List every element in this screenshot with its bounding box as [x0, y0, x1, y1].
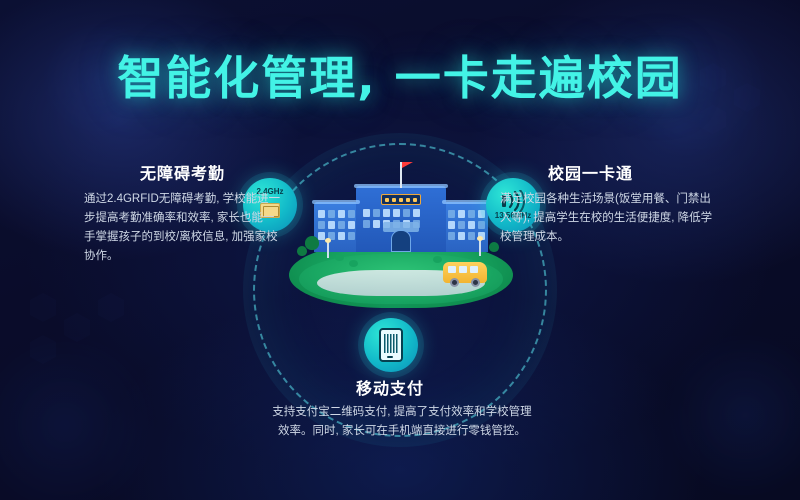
building-signboard	[381, 194, 421, 205]
slide-canvas: 智能化管理, 一卡走遍校园	[0, 0, 800, 500]
roof-line	[442, 200, 490, 204]
section-title-mobile-payment: 移动支付	[356, 375, 424, 399]
section-body-campus-card: 满足校园各种生活场景(饭堂用餐、门禁出入等), 提高学生在校的生活便捷度, 降低…	[500, 190, 714, 247]
bush-icon	[335, 254, 344, 261]
window-grid-left	[318, 210, 355, 240]
bush-icon	[433, 256, 442, 263]
tree-icon	[305, 236, 319, 250]
street-lamp-icon	[327, 242, 329, 258]
tree-icon	[297, 246, 307, 256]
decor-blob	[0, 330, 160, 500]
node-mobile-payment[interactable]	[364, 318, 418, 372]
tree-icon	[489, 242, 499, 252]
section-body-mobile-payment: 支持支付宝二维码支付, 提高了支付效率和学校管理效率。同时, 家长可在手机端直接…	[268, 403, 536, 441]
building-door	[391, 230, 411, 252]
decor-blob	[660, 330, 800, 500]
section-body-mobile-payment-text: 支持支付宝二维码支付, 提高了支付效率和学校管理效率。同时, 家长可在手机端直接…	[268, 403, 536, 441]
roof-line	[312, 200, 360, 204]
section-body-attendance-text: 通过2.4GRFID无障碍考勤, 学校能进一步提高考勤准确率和效率, 家长也能一…	[84, 190, 284, 266]
school-campus-illustration	[283, 150, 519, 310]
section-title-campus-card: 校园一卡通	[548, 160, 633, 184]
section-title-attendance: 无障碍考勤	[140, 160, 225, 184]
bush-icon	[349, 260, 358, 267]
mobile-phone-icon	[379, 328, 403, 362]
school-bus-icon	[443, 262, 487, 283]
street-lamp-icon	[479, 240, 481, 256]
section-body-attendance: 通过2.4GRFID无障碍考勤, 学校能进一步提高考勤准确率和效率, 家长也能一…	[84, 190, 284, 266]
page-title: 智能化管理, 一卡走遍校园	[0, 42, 800, 108]
flag-icon	[402, 162, 413, 174]
section-body-campus-card-text: 满足校园各种生活场景(饭堂用餐、门禁出入等), 提高学生在校的生活便捷度, 降低…	[500, 190, 714, 247]
